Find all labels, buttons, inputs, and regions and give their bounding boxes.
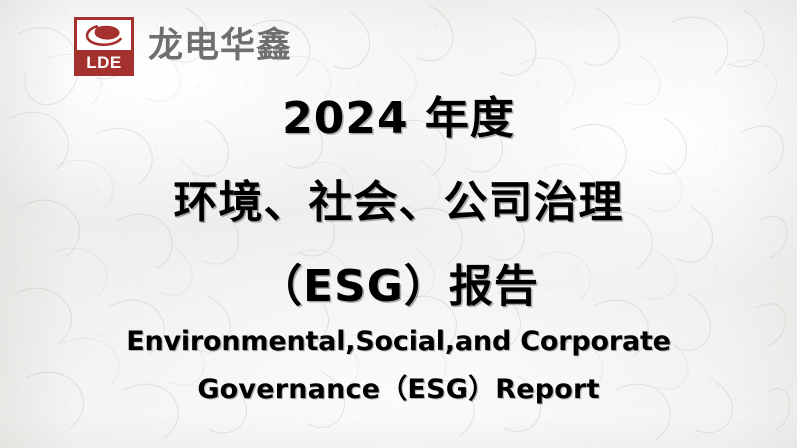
- title-line-report-type: （ESG）报告: [0, 254, 797, 320]
- logo-wordmark: LDE: [86, 50, 122, 76]
- logo-emblem: [77, 20, 131, 50]
- subtitle-line-two: Governance（ESG）Report: [0, 368, 797, 412]
- subtitle-line-one: Environmental,Social,and Corporate: [0, 320, 797, 364]
- title-line-topic: 环境、社会、公司治理: [0, 170, 797, 236]
- company-logo: LDE: [74, 17, 134, 76]
- title-line-year: 2024 年度: [0, 86, 797, 152]
- brand-lockup: LDE 龙电华鑫: [74, 17, 292, 76]
- swoosh-ellipse-icon: [84, 24, 124, 46]
- cover-title-block: 2024 年度 环境、社会、公司治理 （ESG）报告 Environmental…: [0, 86, 797, 412]
- report-cover-page: LDE 龙电华鑫 2024 年度 环境、社会、公司治理 （ESG）报告 Envi…: [0, 0, 797, 448]
- company-name: 龙电华鑫: [148, 29, 292, 64]
